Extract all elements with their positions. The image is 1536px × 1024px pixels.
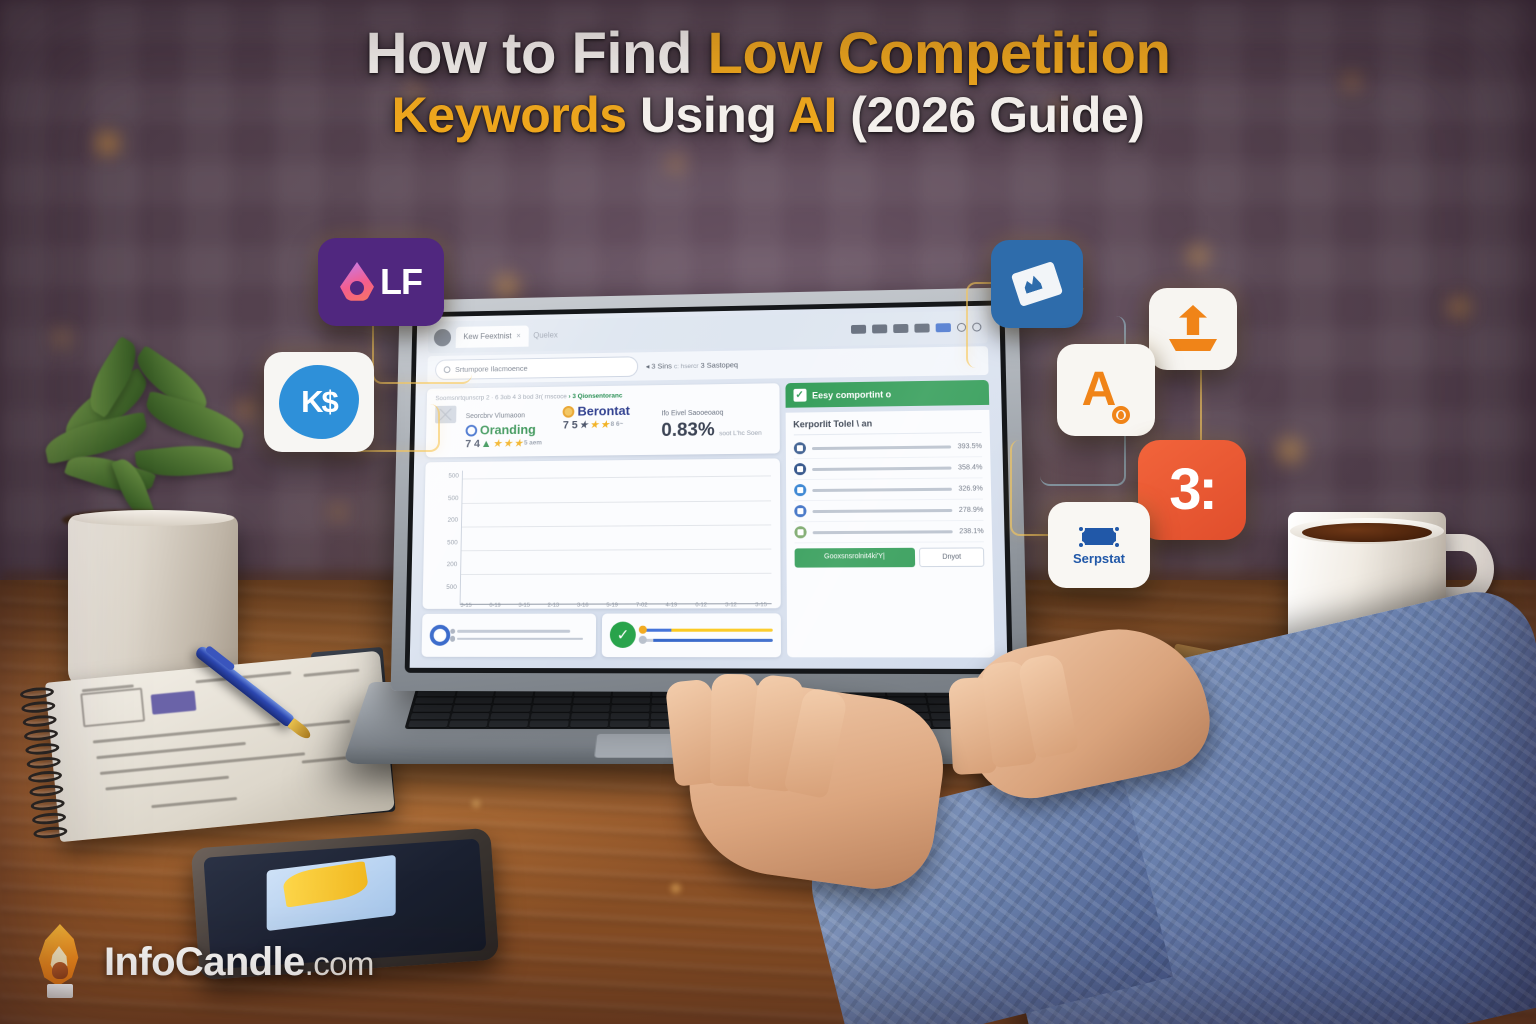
notebook-highlight-chip — [151, 691, 197, 715]
image-search-icon — [1011, 261, 1063, 307]
potted-plant — [40, 360, 280, 690]
screen-content: Soomsnrtqunscrp 2 · 6 3ob 4 3 bod 3r( rn… — [421, 380, 994, 657]
extension-icon[interactable] — [936, 323, 951, 332]
title-part-using: Using — [640, 87, 788, 143]
y-tick: 500 — [446, 584, 457, 591]
notebook-page — [45, 651, 395, 842]
scissors-icon[interactable] — [915, 324, 930, 333]
panel-row[interactable]: 278.9% — [794, 500, 984, 523]
rating-stars: 7 5 ★★★ 8 6~ — [563, 418, 652, 432]
app-icon-serpstat[interactable]: Serpstat — [1048, 502, 1150, 588]
app-icon-lf[interactable]: LF — [318, 238, 444, 326]
check-circle-icon: ✓ — [610, 622, 636, 648]
app-icon-serpstat-label: Serpstat — [1073, 551, 1125, 566]
x-tick: 4-19 — [662, 602, 680, 608]
bar-chart[interactable]: 500 500 200 500 200 500 — [422, 459, 780, 609]
notebook-line — [151, 797, 237, 808]
row-icon — [794, 505, 806, 517]
y-tick: 500 — [448, 495, 459, 502]
breadcrumb-pre: ◂ 3 Sins — [646, 362, 672, 371]
tabs-icon[interactable] — [893, 324, 908, 333]
kpi-row: Seorcbrv Vlumaoon Oranding 7 4 ▲★★★ — [434, 401, 770, 450]
x-tick: 3-12 — [722, 602, 740, 608]
circle-icon — [465, 425, 477, 437]
list-icon[interactable] — [872, 324, 887, 333]
panel-body: Kerporlit Tolel \ an 393.5%358.4%326.9%2… — [785, 410, 995, 658]
app-icon-upload[interactable] — [1149, 288, 1237, 370]
panel-row-list: 393.5%358.4%326.9%278.9%238.1% — [793, 436, 984, 543]
notebook-line — [96, 742, 246, 759]
brand-domain: .com — [305, 945, 374, 982]
kpi-right: Ifo Eivel Saooeoaoq 0.83% soot L'hc Soen — [661, 401, 770, 442]
app-icon-ks-label: K$ — [301, 384, 337, 420]
kpi-left-score: 7 4 — [465, 438, 480, 450]
x-tick: 0-12 — [692, 602, 710, 608]
numeral-three-icon: 3: — [1169, 465, 1215, 514]
y-tick: 500 — [448, 473, 459, 480]
row-icon — [793, 443, 805, 455]
letter-a-icon: A — [1082, 366, 1117, 414]
browser-tab-bar[interactable]: Kew Feextnist × Quelex — [428, 311, 988, 353]
app-icon-ks[interactable]: K$ — [264, 352, 374, 452]
row-percent: 393.5% — [958, 443, 983, 450]
close-icon[interactable]: × — [516, 331, 521, 340]
title-part-how-to-find: How to Find — [366, 21, 708, 86]
kpi-card: Soomsnrtqunscrp 2 · 6 3ob 4 3 bod 3r( rn… — [426, 384, 780, 458]
coffee-surface — [1302, 523, 1432, 542]
row-icon — [794, 484, 806, 496]
kpi-middle-tail: 8 6~ — [611, 421, 624, 428]
title-line-2: Keywords Using AI (2026 Guide) — [0, 87, 1536, 143]
browser-address-bar[interactable]: Srtumpore Ilacmoence ◂ 3 Sins c: hsercr … — [427, 346, 989, 384]
title-part-low-competition: Low Competition — [708, 21, 1171, 86]
rating-stars: 7 4 ▲★★★ 5 aem — [465, 437, 553, 451]
secondary-button[interactable]: Dnyot — [919, 548, 985, 568]
title-part-ai: AI — [788, 87, 850, 143]
kpi-right-tail: soot L'hc Soen — [719, 430, 762, 437]
notebook-line — [105, 776, 229, 791]
folder-circle-icon — [429, 625, 450, 646]
row-bar — [812, 466, 952, 470]
chart-plot-area — [459, 468, 771, 605]
x-tick: 3-15 — [752, 602, 771, 608]
kpi-right-label: Ifo Eivel Saooeoaoq — [661, 410, 723, 418]
kpi-right-value: 0.83% — [661, 420, 714, 441]
arrow-up-tray-icon — [1169, 305, 1217, 353]
row-bar — [812, 530, 953, 534]
drop-in-circle-icon — [1112, 406, 1130, 424]
row-icon — [794, 463, 806, 475]
subcrumb-a: Soomsnrtqunscrp 2 · 6 3ob 4 3 bod — [435, 394, 533, 402]
panel-header-label: Eesy comportint o — [812, 389, 891, 400]
laptop-lid: Kew Feextnist × Quelex — [391, 287, 1028, 693]
x-tick: 7-02 — [633, 602, 651, 608]
row-percent: 238.1% — [959, 528, 984, 535]
brand-name-text: InfoCandle — [104, 940, 305, 984]
row-percent: 278.9% — [959, 507, 984, 514]
notebook-line — [302, 756, 350, 764]
panel-row[interactable]: 326.9% — [794, 479, 983, 502]
page-title: How to Find Low Competition Keywords Usi… — [0, 22, 1536, 143]
app-icon-image-search[interactable] — [991, 240, 1083, 328]
app-icon-three[interactable]: 3: — [1138, 440, 1246, 540]
y-tick: 200 — [447, 517, 458, 524]
x-tick: 2-13 — [544, 602, 562, 608]
panel-row[interactable]: 393.5% — [793, 436, 982, 459]
row-bar — [812, 509, 953, 513]
magnifier-glass-icon — [1023, 266, 1056, 299]
subcrumb-c: › 3 Qionsentoranc — [568, 393, 622, 401]
brand-name: InfoCandle.com — [104, 940, 374, 985]
kpi-left-tail: 5 aem — [524, 440, 542, 447]
x-tick: 5-19 — [603, 602, 621, 608]
main-column: Soomsnrtqunscrp 2 · 6 3ob 4 3 bod 3r( rn… — [421, 384, 780, 658]
bottom-cards-row: ✓ — [421, 613, 780, 658]
kpi-middle: Berontat 7 5 ★★★ 8 6~ — [563, 403, 652, 432]
panel-title: Kerporlit Tolel \ an — [793, 417, 982, 435]
chart-x-axis: 3-150-193-152-133-165-197-024-190-123-12… — [448, 602, 781, 609]
row-percent: 326.9% — [958, 485, 983, 492]
row-icon — [794, 527, 806, 539]
drop-icon[interactable] — [957, 323, 966, 332]
row-bar — [812, 445, 952, 450]
breadcrumb-mid: c: hsercr — [674, 363, 699, 370]
app-icon-lf-label: LF — [380, 261, 422, 303]
x-tick: 0-19 — [486, 602, 504, 608]
panel-header: ✓ Eesy comportint o — [785, 380, 989, 408]
circle-icon — [563, 406, 575, 418]
primary-button[interactable]: Gooxsnsrolnit4ki'Y| — [794, 548, 915, 568]
title-line-1: How to Find Low Competition — [0, 22, 1536, 87]
x-tick: 3-15 — [457, 602, 475, 608]
title-part-year-guide: (2026 Guide) — [850, 87, 1144, 143]
slider-group[interactable] — [643, 629, 772, 642]
detail-lines — [457, 630, 588, 640]
check-icon: ✓ — [793, 389, 806, 402]
laptop-bezel: Kew Feextnist × Quelex — [405, 300, 1013, 674]
panel-footer: Gooxsnsrolnit4ki'Y| Dnyot — [794, 548, 984, 568]
chart-bars — [460, 468, 771, 604]
serpstat-logo-icon — [1077, 525, 1121, 549]
notebook-line — [93, 723, 280, 744]
side-panel: ✓ Eesy comportint o Kerporlit Tolel \ an… — [785, 380, 995, 657]
kpi-left: Seorcbrv Vlumaoon Oranding 7 4 ▲★★★ — [465, 405, 553, 451]
water-drop-icon — [340, 262, 374, 302]
browser-toolbar-icons[interactable] — [851, 323, 982, 334]
laptop-screen[interactable]: Kew Feextnist × Quelex — [410, 305, 1008, 669]
bottom-card-right[interactable]: ✓ — [602, 613, 781, 658]
brand-logo[interactable]: InfoCandle.com — [30, 924, 374, 1000]
kpi-middle-score: 7 5 — [563, 419, 578, 431]
row-bar — [812, 488, 952, 492]
x-tick: 3-16 — [574, 602, 592, 608]
scene: How to Find Low Competition Keywords Usi… — [0, 0, 1536, 1024]
candle-flame-icon — [30, 924, 88, 1000]
pin-icon[interactable] — [851, 325, 866, 334]
notebook-line — [303, 669, 359, 677]
kpi-section-label: Seorcbrv Vlumaoon — [466, 413, 525, 421]
panel-row[interactable]: 358.4% — [794, 458, 983, 481]
blob-badge-icon: K$ — [279, 365, 359, 439]
y-tick: 500 — [447, 539, 458, 546]
notebook-sketch-box — [80, 688, 145, 728]
panel-row[interactable]: 238.1% — [794, 521, 984, 543]
app-icon-ao[interactable]: A — [1057, 344, 1155, 436]
subcrumb: Soomsnrtqunscrp 2 · 6 3ob 4 3 bod 3r( rn… — [435, 391, 770, 403]
x-tick: 3-15 — [515, 602, 533, 608]
kpi-left-name: Oranding — [465, 422, 553, 438]
browser-tab-inactive[interactable]: Quelex — [533, 331, 558, 340]
row-percent: 358.4% — [958, 464, 983, 471]
breadcrumb-post: 3 Sastopeq — [701, 361, 739, 370]
y-tick: 200 — [447, 561, 458, 568]
slider-blue[interactable] — [643, 639, 772, 642]
chart-y-axis: 500 500 200 500 200 500 — [431, 471, 459, 604]
breadcrumb[interactable]: ◂ 3 Sins c: hsercr 3 Sastopeq — [646, 361, 738, 371]
kpi-middle-name: Berontat — [563, 403, 652, 419]
slider-yellow[interactable] — [643, 629, 772, 632]
title-part-keywords: Keywords — [392, 87, 640, 143]
subcrumb-b: 3r( rnscoce — [535, 394, 567, 401]
bottom-card-left[interactable] — [421, 613, 596, 657]
